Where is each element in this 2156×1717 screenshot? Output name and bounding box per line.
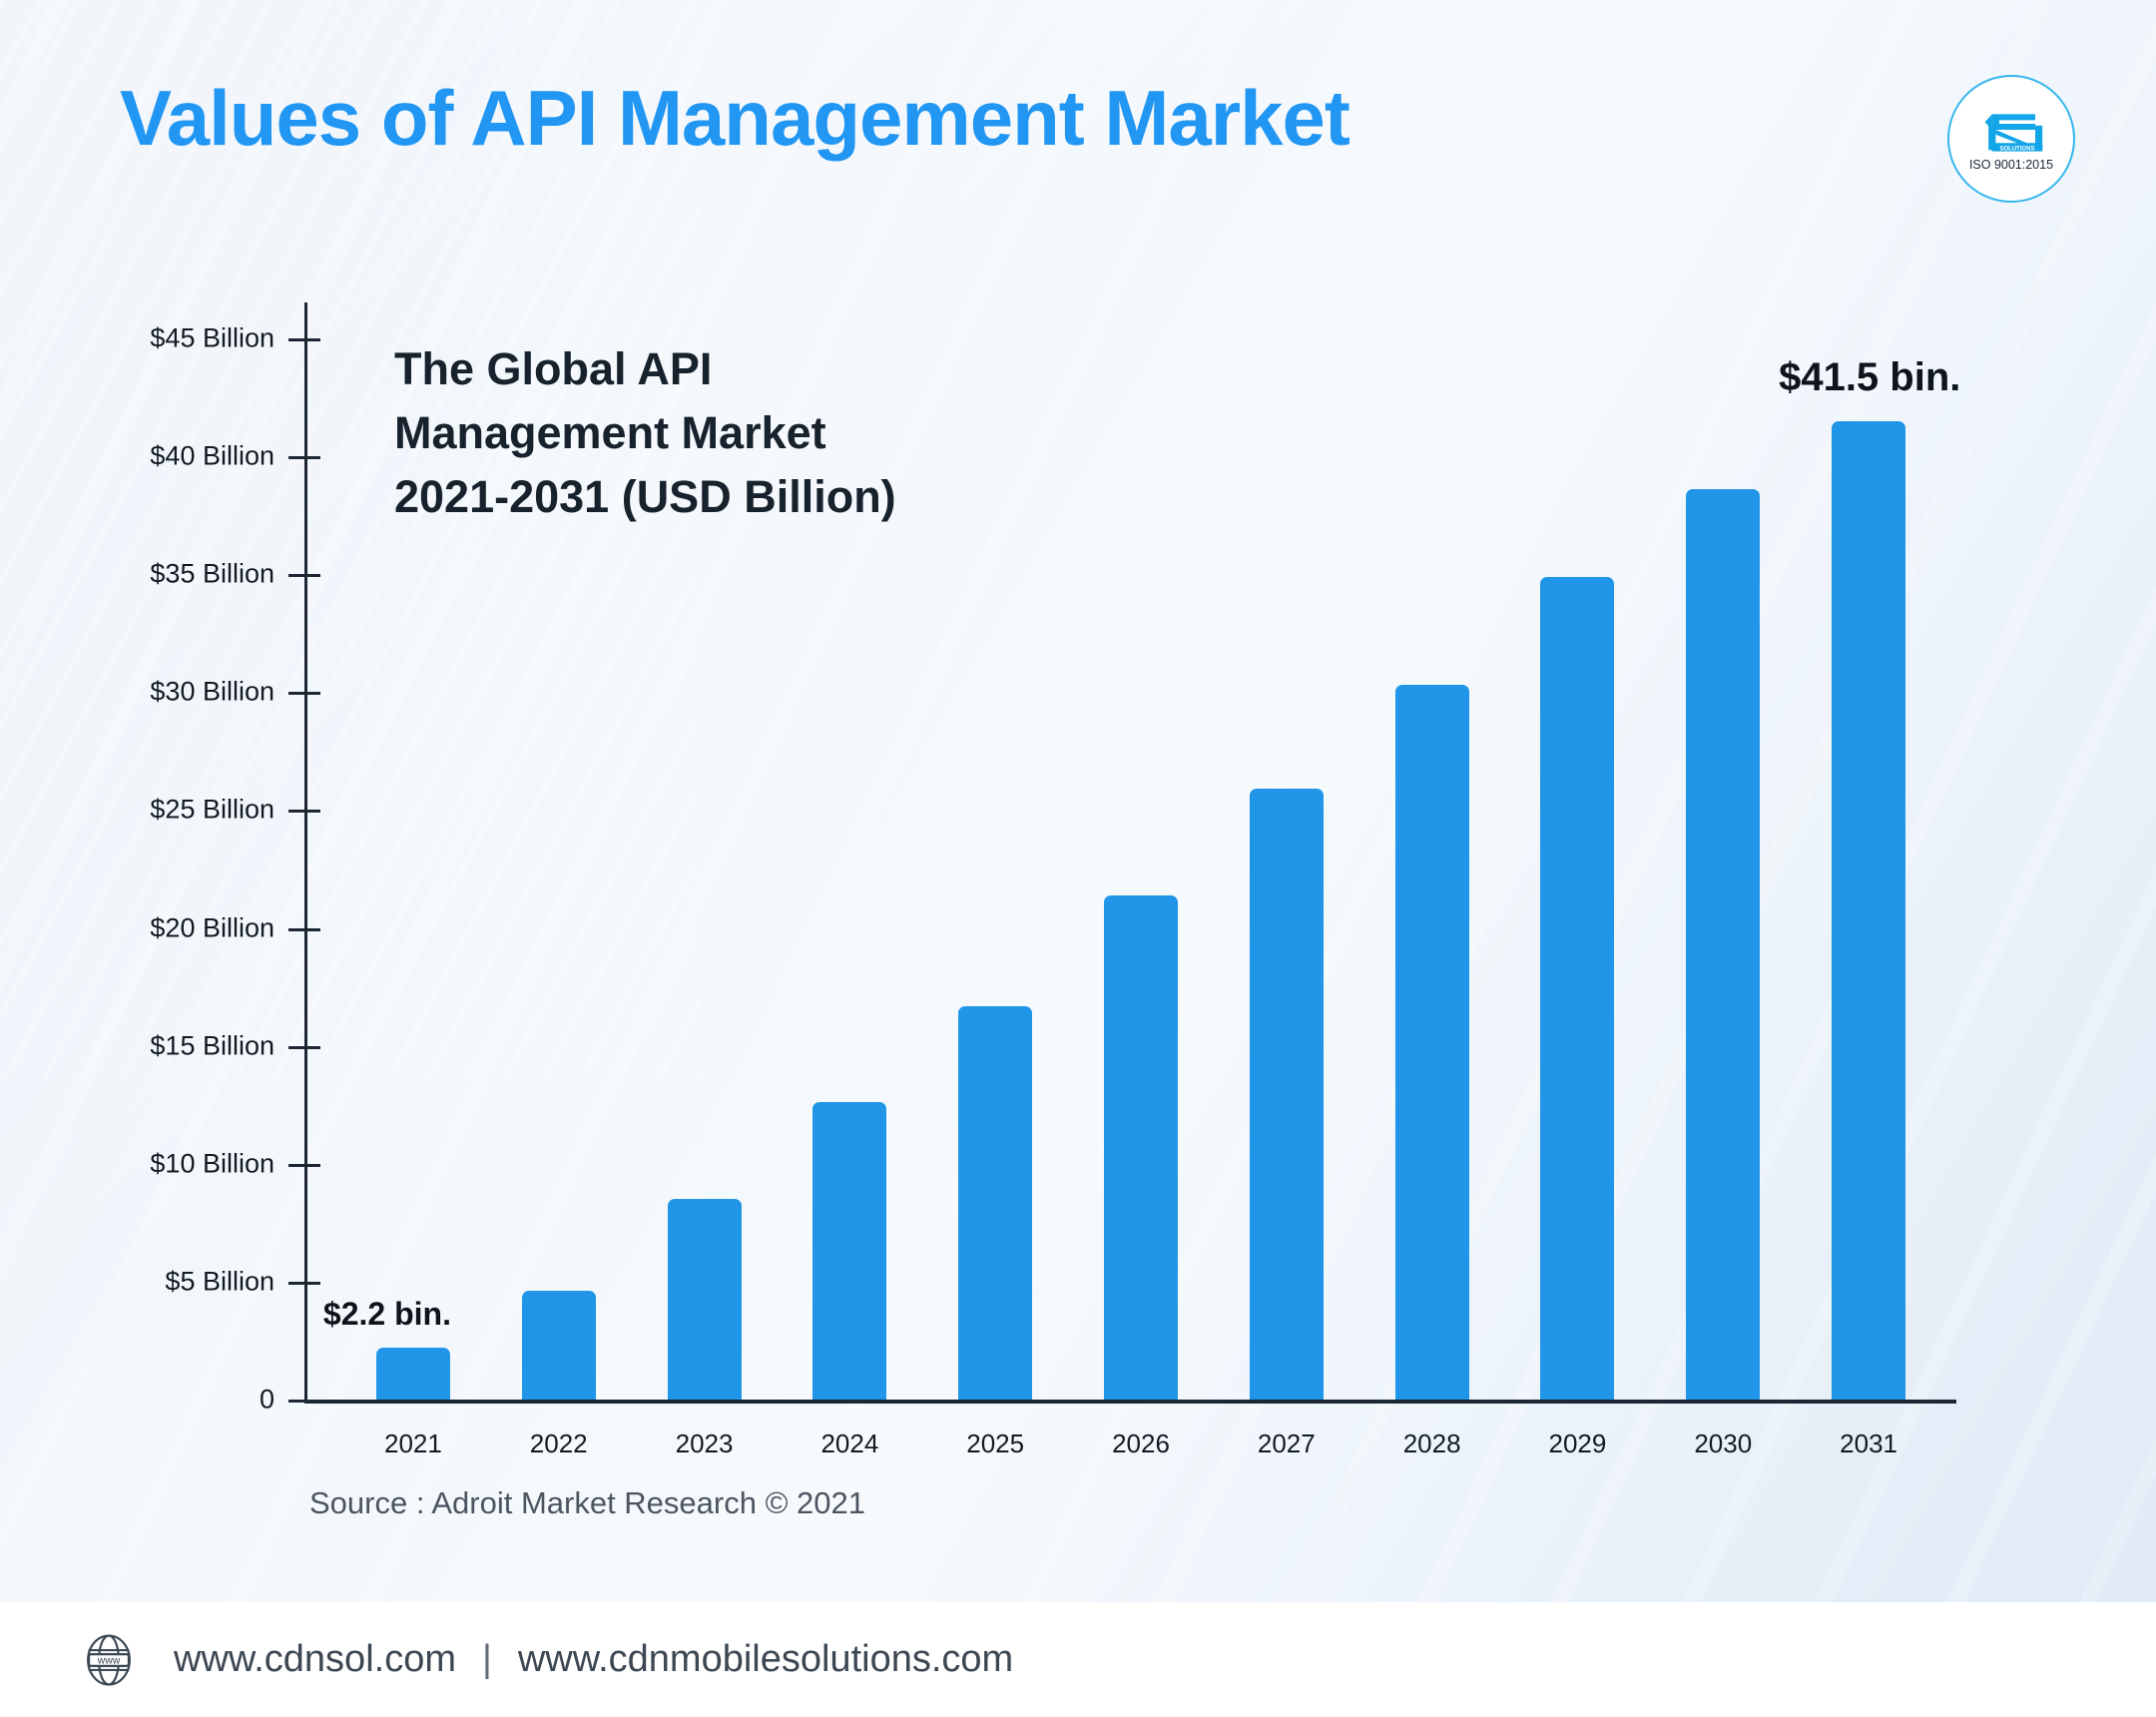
bar-2024	[812, 1102, 886, 1400]
globe-www-text: www	[97, 1655, 121, 1666]
x-axis-label-2021: 2021	[340, 1429, 486, 1459]
footer-url-primary[interactable]: www.cdnsol.com	[174, 1638, 456, 1681]
bar-2023	[668, 1199, 742, 1400]
x-axis-label-2028: 2028	[1359, 1429, 1505, 1459]
company-logo: SOLUTIONS ISO 9001:2015	[1947, 75, 2075, 203]
bar-2029	[1540, 577, 1614, 1400]
source-attribution: Source : Adroit Market Research © 2021	[309, 1485, 865, 1521]
y-axis-label: 0	[45, 1385, 274, 1416]
globe-www-icon: www	[80, 1631, 138, 1689]
page-title: Values of API Management Market	[120, 78, 1349, 160]
y-axis-tick	[288, 574, 320, 577]
y-axis-tick	[288, 338, 320, 341]
y-axis-label: $35 Billion	[45, 559, 274, 590]
y-axis-tick	[288, 1164, 320, 1167]
bar-2021	[376, 1348, 450, 1400]
y-axis-label: $5 Billion	[45, 1266, 274, 1297]
y-axis-label: $45 Billion	[45, 323, 274, 354]
bar-2022	[522, 1291, 596, 1400]
bar-2028	[1395, 685, 1469, 1400]
bar-2027	[1250, 789, 1324, 1400]
x-axis-label-2025: 2025	[922, 1429, 1068, 1459]
bar-2026	[1104, 895, 1178, 1401]
y-axis-label: $25 Billion	[45, 795, 274, 826]
footer-url-secondary[interactable]: www.cdnmobilesolutions.com	[518, 1638, 1013, 1681]
y-axis-tick	[288, 1282, 320, 1285]
value-label-2021: $2.2 bin.	[323, 1296, 451, 1333]
y-axis-label: $10 Billion	[45, 1148, 274, 1179]
footer-urls: www.cdnsol.com | www.cdnmobilesolutions.…	[174, 1638, 1013, 1681]
value-label-2031: $41.5 bin.	[1779, 355, 1960, 400]
bar-2025	[958, 1006, 1032, 1400]
x-axis-label-2024: 2024	[777, 1429, 922, 1459]
cdn-monogram-icon: SOLUTIONS	[1975, 106, 2047, 154]
y-axis-tick	[288, 810, 320, 813]
svg-text:SOLUTIONS: SOLUTIONS	[1999, 146, 2034, 152]
infographic-page: Values of API Management Market SOLUTION…	[0, 0, 2156, 1717]
x-axis-line	[304, 1400, 1956, 1404]
iso-certification-label: ISO 9001:2015	[1969, 158, 2053, 172]
y-axis-tick	[288, 1046, 320, 1049]
x-axis-label-2023: 2023	[632, 1429, 778, 1459]
bar-chart: $45 Billion$40 Billion$35 Billion$30 Bil…	[304, 302, 1956, 1402]
bar-2030	[1686, 489, 1760, 1400]
y-axis-label: $40 Billion	[45, 441, 274, 472]
x-axis-label-2026: 2026	[1068, 1429, 1214, 1459]
x-axis-label-2027: 2027	[1214, 1429, 1359, 1459]
footer-bar: www www.cdnsol.com | www.cdnmobilesoluti…	[0, 1602, 2156, 1717]
x-axis-label-2031: 2031	[1796, 1429, 1941, 1459]
y-axis-line	[304, 302, 307, 1402]
y-axis-label: $20 Billion	[45, 912, 274, 943]
footer-separator: |	[482, 1638, 492, 1681]
bar-2031	[1832, 421, 1905, 1400]
x-axis-label-2029: 2029	[1505, 1429, 1651, 1459]
y-axis-label: $15 Billion	[45, 1030, 274, 1061]
y-axis-tick	[288, 692, 320, 695]
y-axis-tick	[288, 928, 320, 931]
x-axis-label-2030: 2030	[1650, 1429, 1796, 1459]
y-axis-tick	[288, 456, 320, 459]
y-axis-label: $30 Billion	[45, 677, 274, 708]
y-axis-tick	[288, 1400, 320, 1403]
x-axis-label-2022: 2022	[486, 1429, 632, 1459]
